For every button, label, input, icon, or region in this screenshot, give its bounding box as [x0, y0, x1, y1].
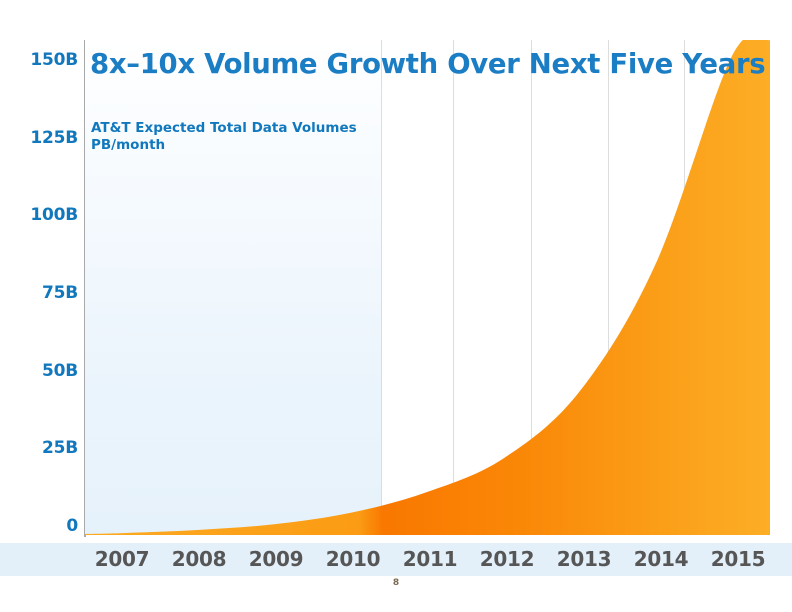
page-title: 8x–10x Volume Growth Over Next Five Year… [90, 48, 765, 80]
y-tick-label: 150B [30, 52, 78, 69]
x-axis-labels: 2007 2008 2009 2010 2011 2012 2013 2014 … [0, 543, 792, 576]
x-tick-label: 2011 [390, 547, 470, 571]
y-tick-label: 75B [42, 285, 78, 302]
page-number: 8 [0, 578, 792, 588]
y-tick-label: 50B [42, 363, 78, 380]
plot-area [85, 40, 770, 535]
y-axis-labels: 150B 125B 100B 75B 50B 25B 0 [0, 0, 78, 612]
x-tick-label: 2010 [313, 547, 393, 571]
x-tick-label: 2009 [236, 547, 316, 571]
slide: 150B 125B 100B 75B 50B 25B 0 [0, 0, 792, 612]
x-tick-label: 2013 [544, 547, 624, 571]
x-tick-label: 2015 [698, 547, 778, 571]
y-tick-label: 0 [66, 518, 78, 535]
x-tick-label: 2012 [467, 547, 547, 571]
x-tick-label: 2007 [82, 547, 162, 571]
x-tick-label: 2014 [621, 547, 701, 571]
y-tick-label: 25B [42, 440, 78, 457]
x-tick-label: 2008 [159, 547, 239, 571]
chart-subtitle: AT&T Expected Total Data Volumes PB/mont… [91, 120, 357, 153]
area-series-volume-growth [85, 40, 770, 535]
y-tick-label: 125B [30, 130, 78, 147]
y-tick-label: 100B [30, 207, 78, 224]
